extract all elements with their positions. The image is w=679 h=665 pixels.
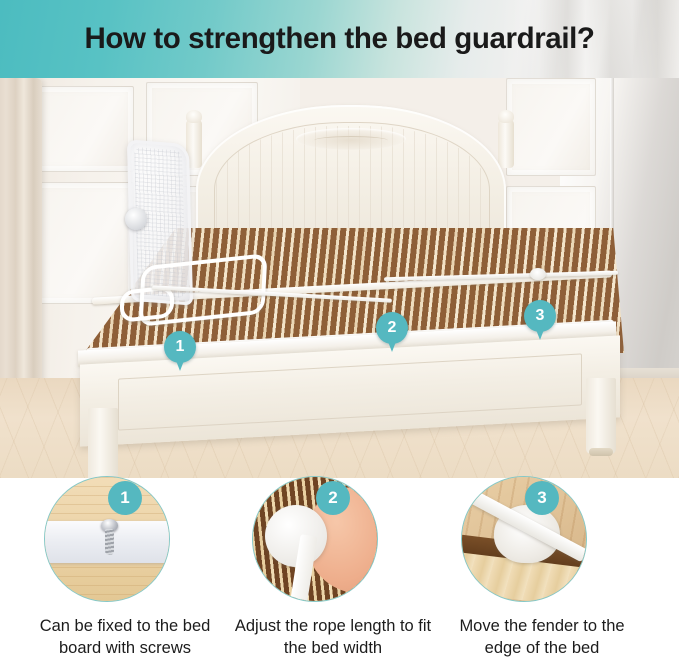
step-badge-1: 1 xyxy=(108,481,142,515)
marker-pin-3[interactable]: 3 xyxy=(524,300,556,332)
bed-leg-left xyxy=(88,408,118,478)
guardrail-pivot-knob xyxy=(125,208,147,230)
infographic-page: How to strengthen the bed guardrail? xyxy=(0,0,679,665)
curtain xyxy=(0,78,42,396)
headboard-post-right xyxy=(498,120,514,168)
step-photo-2 xyxy=(252,476,378,602)
screw-shaft-icon xyxy=(105,529,114,555)
page-title: How to strengthen the bed guardrail? xyxy=(0,0,679,78)
marker-pin-1[interactable]: 1 xyxy=(164,331,196,363)
headboard-finial-right xyxy=(498,110,514,123)
steps-row: 1 Can be fixed to the bed board with scr… xyxy=(0,478,679,665)
step-caption-3: Move the fender to the edge of the bed xyxy=(442,616,642,660)
bed-leg-right xyxy=(586,378,616,454)
step-caption-2: Adjust the rope length to fit the bed wi… xyxy=(233,616,433,660)
step-photo-3 xyxy=(461,476,587,602)
marker-pin-2[interactable]: 2 xyxy=(376,312,408,344)
rope-anchor-disc xyxy=(530,268,546,280)
bed-leg-foot-right xyxy=(589,448,613,456)
door-panel-upper-left xyxy=(36,86,134,172)
step-badge-2: 2 xyxy=(316,481,350,515)
header-banner: How to strengthen the bed guardrail? xyxy=(0,0,679,78)
step-caption-1: Can be fixed to the bed board with screw… xyxy=(25,616,225,660)
step-photo-1 xyxy=(44,476,170,602)
step-badge-3: 3 xyxy=(525,481,559,515)
headboard-carving xyxy=(296,128,406,150)
door-panel-lower-left xyxy=(36,182,134,304)
door-panel-right-upper xyxy=(506,78,596,176)
main-bedroom-photo: 1 2 3 xyxy=(0,78,679,478)
headboard-finial-left xyxy=(186,110,202,123)
